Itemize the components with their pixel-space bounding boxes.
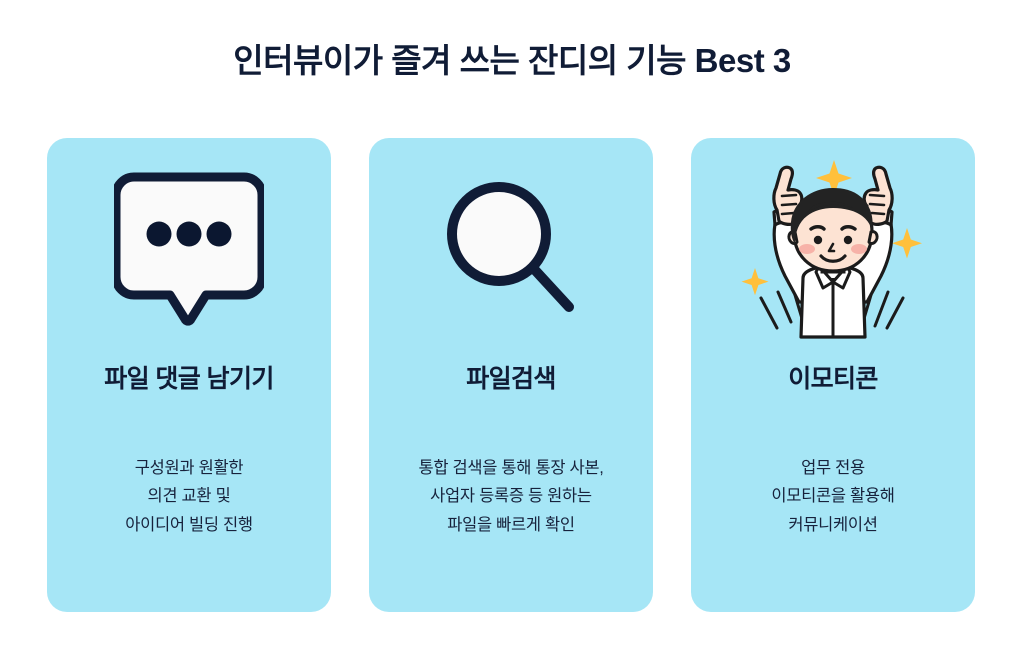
card-icon-area: [691, 138, 975, 356]
card-description: 통합 검색을 통해 통장 사본, 사업자 등록증 등 원하는 파일을 빠르게 확…: [418, 454, 603, 539]
card-icon-area: [47, 138, 331, 356]
sparkle-icon: [892, 228, 922, 259]
card-description-line: 구성원과 원활한: [125, 454, 253, 482]
card-description-line: 파일을 빠르게 확인: [418, 511, 603, 539]
card-description: 업무 전용 이모티콘을 활용해 커뮤니케이션: [771, 454, 894, 539]
feature-card-row: 파일 댓글 남기기 구성원과 원활한 의견 교환 및 아이디어 빌딩 진행 파일…: [47, 138, 977, 612]
magnifying-glass-icon: [436, 167, 586, 327]
speech-bubble-dots-icon: [114, 167, 264, 327]
card-title: 이모티콘: [788, 364, 878, 394]
card-description-line: 의견 교환 및: [125, 482, 253, 510]
feature-card-file-search[interactable]: 파일검색 통합 검색을 통해 통장 사본, 사업자 등록증 등 원하는 파일을 …: [369, 138, 653, 612]
sparkle-icon: [742, 268, 769, 295]
card-description-line: 사업자 등록증 등 원하는: [418, 482, 603, 510]
feature-card-emoticon[interactable]: 이모티콘 업무 전용 이모티콘을 활용해 커뮤니케이션: [691, 138, 975, 612]
card-title: 파일 댓글 남기기: [104, 364, 274, 394]
card-description-line: 통합 검색을 통해 통장 사본,: [418, 454, 603, 482]
card-icon-area: [369, 138, 653, 356]
infographic-page: 인터뷰이가 즐겨 쓰는 잔디의 기능 Best 3 파일 댓글 남기기 구성원과…: [0, 0, 1024, 661]
card-title: 파일검색: [466, 364, 556, 394]
card-description-line: 아이디어 빌딩 진행: [125, 511, 253, 539]
card-description: 구성원과 원활한 의견 교환 및 아이디어 빌딩 진행: [125, 454, 253, 539]
card-description-line: 업무 전용: [771, 454, 894, 482]
thumbs-up-person-emoticon-icon: [733, 152, 933, 342]
page-title: 인터뷰이가 즐겨 쓰는 잔디의 기능 Best 3: [0, 40, 1024, 81]
feature-card-file-comments[interactable]: 파일 댓글 남기기 구성원과 원활한 의견 교환 및 아이디어 빌딩 진행: [47, 138, 331, 612]
card-description-line: 이모티콘을 활용해: [771, 482, 894, 510]
card-description-line: 커뮤니케이션: [771, 511, 894, 539]
